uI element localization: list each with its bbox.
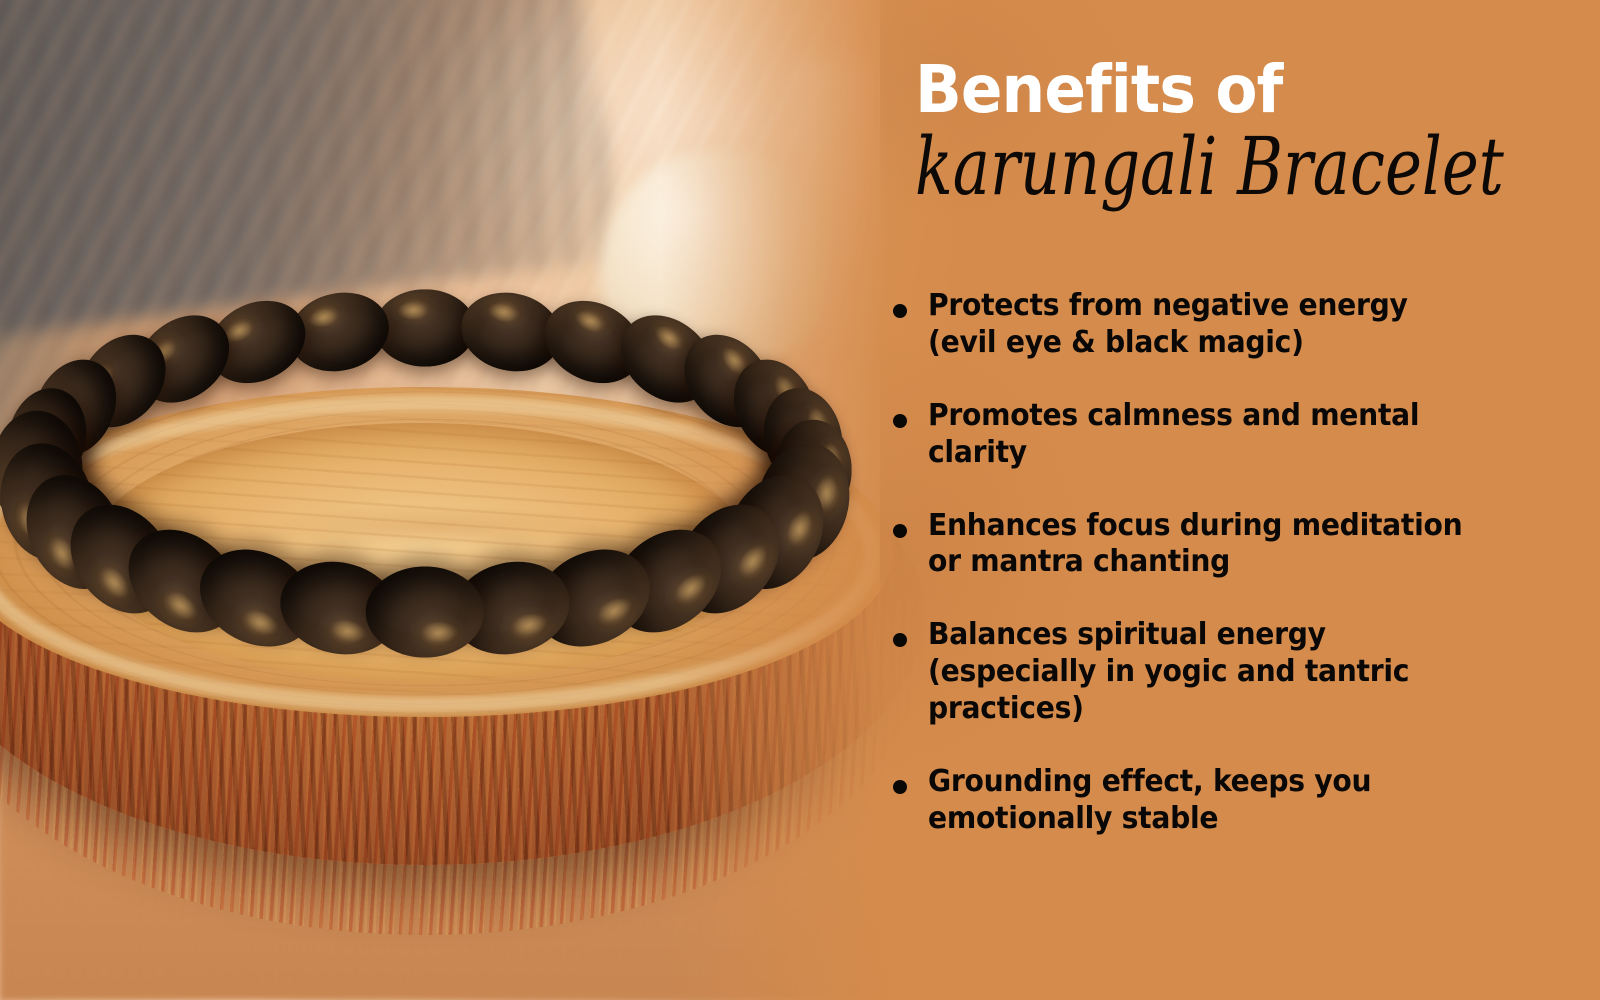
benefit-item: Grounding effect, keeps you emotionally … xyxy=(888,764,1600,838)
benefit-item: Balances spiritual energy (especially in… xyxy=(888,617,1600,728)
bullet-dot-icon xyxy=(893,304,907,318)
benefit-text: Grounding effect, keeps you emotionally … xyxy=(928,764,1560,838)
benefit-text: Promotes calmness and mental clarity xyxy=(928,398,1560,472)
bracelet-bead xyxy=(366,566,485,657)
benefit-item: Enhances focus during meditation or mant… xyxy=(888,508,1600,582)
bullet-dot-icon xyxy=(893,780,907,794)
benefit-text: Protects from negative energy (evil eye … xyxy=(928,288,1560,362)
bullet-dot-icon xyxy=(893,633,907,647)
benefits-panel: Benefits of karungali Bracelet Protects … xyxy=(880,0,1600,1000)
benefit-item: Protects from negative energy (evil eye … xyxy=(888,288,1600,362)
title-line-secondary: karungali Bracelet xyxy=(915,127,1504,207)
bullet-dot-icon xyxy=(893,414,907,428)
product-photo xyxy=(0,0,960,1000)
page-title: Benefits of karungali Bracelet xyxy=(915,58,1600,207)
benefit-item: Promotes calmness and mental clarity xyxy=(888,398,1600,472)
benefit-text: Balances spiritual energy (especially in… xyxy=(928,617,1560,728)
title-line-primary: Benefits of xyxy=(915,58,1600,121)
bullet-dot-icon xyxy=(893,524,907,538)
benefit-text: Enhances focus during meditation or mant… xyxy=(928,508,1560,582)
benefits-list: Protects from negative energy (evil eye … xyxy=(888,288,1600,874)
poster-canvas: Benefits of karungali Bracelet Protects … xyxy=(0,0,1600,1000)
